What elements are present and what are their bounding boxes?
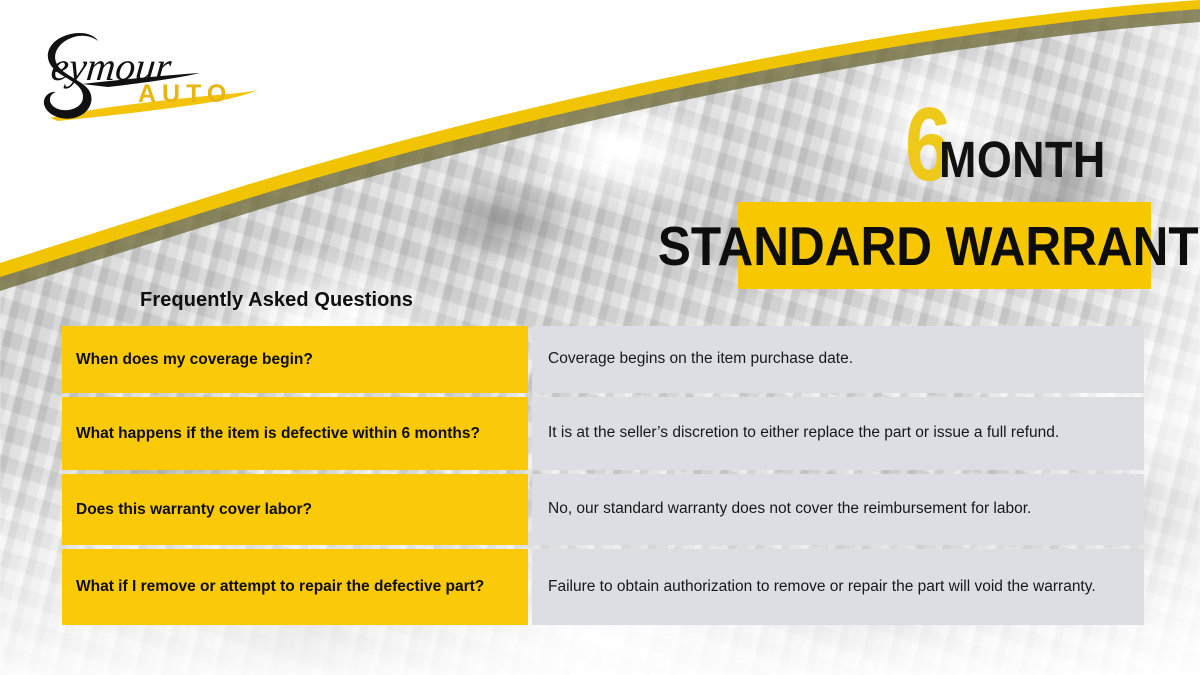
warranty-month-label: MONTH (939, 137, 1106, 183)
faq-question: When does my coverage begin? (62, 326, 528, 393)
faq-answer: It is at the seller’s discretion to eith… (532, 397, 1144, 470)
standard-warranty-banner: STANDARD WARRANTY (738, 202, 1151, 289)
faq-answer: Coverage begins on the item purchase dat… (532, 326, 1144, 393)
faq-table: When does my coverage begin? Coverage be… (58, 322, 1148, 629)
faq-question: Does this warranty cover labor? (62, 474, 528, 545)
warranty-headline: 6 MONTH (905, 78, 1165, 188)
faq-row: When does my coverage begin? Coverage be… (62, 326, 1144, 393)
logo-auto-text: AUTO (138, 80, 232, 108)
warranty-slide: eymour AUTO 6 MONTH STANDARD WARRANTY Fr… (0, 0, 1200, 675)
faq-row: Does this warranty cover labor? No, our … (62, 474, 1144, 545)
faq-question: What if I remove or attempt to repair th… (62, 549, 528, 625)
faq-question: What happens if the item is defective wi… (62, 397, 528, 470)
faq-heading: Frequently Asked Questions (140, 289, 413, 312)
standard-warranty-banner-text: STANDARD WARRANTY (658, 214, 1200, 278)
faq-answer: No, our standard warranty does not cover… (532, 474, 1144, 545)
seymour-auto-logo: eymour AUTO (22, 22, 277, 132)
faq-answer: Failure to obtain authorization to remov… (532, 549, 1144, 625)
faq-row: What happens if the item is defective wi… (62, 397, 1144, 470)
faq-row: What if I remove or attempt to repair th… (62, 549, 1144, 625)
